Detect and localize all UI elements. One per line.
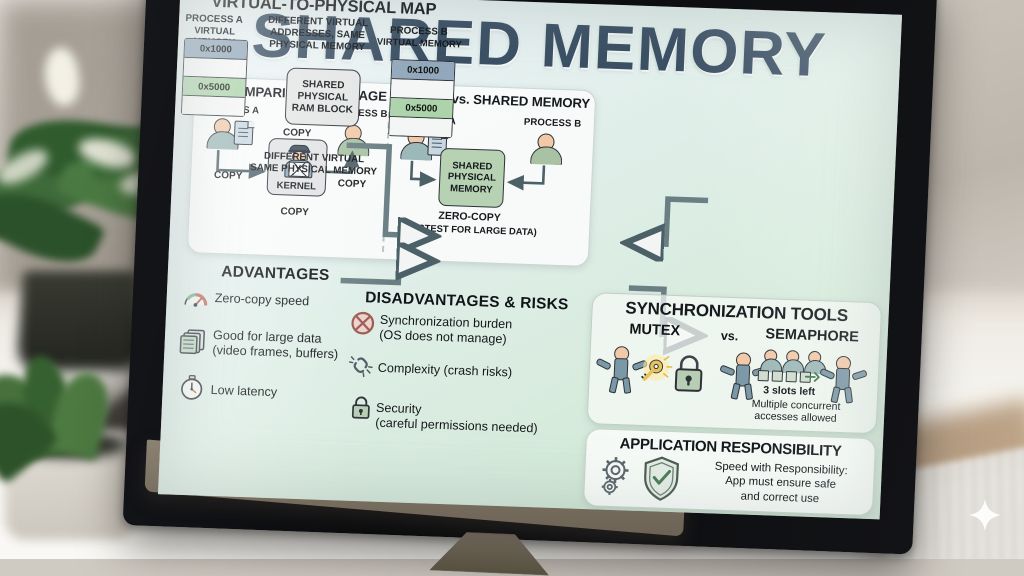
shared-physical-memory-box: SHARED PHYSICAL MEMORY: [438, 148, 506, 208]
sparkle-icon: [968, 498, 1002, 532]
person-leg-left: [609, 376, 619, 393]
memory-row: 0x1000: [184, 39, 247, 60]
broken-chain-icon: [347, 352, 374, 379]
gears-icon: [596, 453, 644, 499]
app-responsibility-body: Speed with Responsibility: App must ensu…: [692, 459, 869, 508]
slot: [772, 371, 783, 382]
ram-line-3: RAM BLOCK: [291, 102, 353, 116]
memory-row: [184, 58, 247, 79]
padlock-icon: [671, 352, 707, 395]
key-icon: [633, 353, 675, 392]
slots-left-text: 3 slots left: [744, 384, 834, 400]
synchronization-tools-card: SYNCHRONIZATION TOOLS MUTEX vs. SEMAPHOR…: [587, 292, 883, 434]
monitor-screen[interactable]: SHARED MEMORY IPC COMPARISON: MESSAGE PA…: [158, 0, 902, 519]
infographic: SHARED MEMORY IPC COMPARISON: MESSAGE PA…: [158, 0, 902, 519]
person-arm-left: [596, 358, 612, 371]
queued-person: [782, 350, 803, 373]
shield-check-icon: [640, 455, 682, 502]
person-arm-left: [819, 368, 835, 380]
mutex-label: MUTEX: [599, 320, 710, 340]
memory-row: [391, 79, 454, 100]
memory-row: [389, 117, 452, 137]
documents-stack-icon: [178, 326, 209, 357]
concurrent-access-text: Multiple concurrent accesses allowed: [733, 397, 859, 426]
person-leg-right: [622, 377, 631, 394]
memory-row: [182, 96, 245, 116]
process-b-memory-column: 0x1000 0x5000: [388, 59, 455, 138]
counter-icon: [803, 369, 820, 386]
process-a-memory-column: 0x1000 0x5000: [181, 38, 248, 117]
no-entry-icon: [349, 310, 376, 337]
vs-label: vs.: [709, 328, 750, 343]
disadvantage-label: Complexity (crash risks): [377, 361, 512, 381]
semaphore-label: SEMAPHORE: [749, 326, 875, 346]
disadvantage-item: Synchronization burden (OS does not mana…: [379, 313, 513, 348]
memory-row: 0x1000: [392, 60, 455, 81]
ipc-copy-label-bottom: COPY: [261, 206, 327, 219]
advantage-item: Good for large data (video frames, buffe…: [212, 328, 339, 363]
application-responsibility-card: APPLICATION RESPONSIBILITY: [583, 428, 876, 516]
disadvantage-label: Synchronization burden (OS does not mana…: [379, 313, 513, 348]
ipc-left-process-b-figure: [337, 124, 368, 155]
advantage-label: Low latency: [210, 383, 277, 401]
person-arm-right: [851, 369, 867, 380]
shm-line-3: MEMORY: [450, 183, 493, 196]
kernel-label: KERNEL: [268, 180, 325, 193]
ipc-right-process-b-figure: [530, 133, 561, 164]
slot: [758, 370, 769, 381]
advantage-item: Low latency: [210, 383, 277, 401]
zero-copy-subcaption: (FASTEST FOR LARGE DATA): [397, 221, 543, 237]
slot: [786, 371, 797, 382]
vtp-note-top: DIFFERENT VIRTUAL ADDRESSES, SAME PHYSIC…: [262, 15, 374, 54]
ipc-right-process-b-label: PROCESS B: [524, 117, 582, 130]
disadvantage-label: Security (careful permissions needed): [375, 401, 539, 437]
person-arm-left: [719, 364, 735, 376]
memory-row: 0x5000: [390, 98, 453, 119]
disadvantage-item: Complexity (crash risks): [377, 361, 512, 381]
computer-monitor: SHARED MEMORY IPC COMPARISON: MESSAGE PA…: [0, 0, 1024, 559]
advantage-item: Zero-copy speed: [214, 291, 309, 310]
advantages-heading: ADVANTAGES: [178, 262, 374, 287]
speedometer-icon: [182, 286, 209, 313]
queued-person: [760, 349, 781, 372]
vtp-note-bottom: DIFFERENT VIRTUAL SAME PHYSICAL MEMORY: [248, 150, 379, 178]
stopwatch-icon: [178, 374, 205, 401]
person-body: [530, 146, 563, 165]
document-icon: [234, 121, 254, 146]
disadvantage-item: Security (careful permissions needed): [375, 401, 539, 437]
disadvantages-heading: DISADVANTAGES & RISKS: [342, 288, 593, 315]
advantage-label: Zero-copy speed: [214, 291, 309, 310]
ipc-copy-label-right: COPY: [323, 178, 381, 191]
advantage-label: Good for large data (video frames, buffe…: [212, 328, 339, 363]
memory-row: 0x5000: [183, 77, 246, 98]
ipc-left-process-a-figure: [206, 118, 237, 149]
padlock-icon: [347, 394, 374, 421]
shared-physical-ram-block: SHARED PHYSICAL RAM BLOCK: [285, 67, 361, 127]
